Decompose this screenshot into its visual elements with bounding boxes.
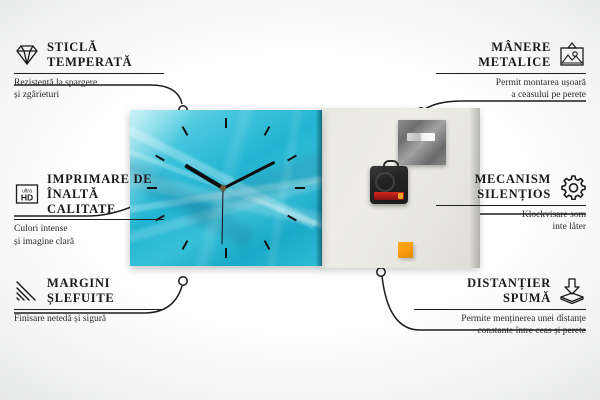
svg-text:HD: HD [21, 193, 33, 203]
callout-sub-line2: constante între ceas și perete [414, 325, 586, 338]
callout-title: STICLĂ TEMPERATĂ [47, 40, 132, 70]
callout-sub-line1: Culori intense [14, 223, 164, 236]
callout-mecanism-silentios: MECANISM SILENȚIOS Klockvisare som inte … [436, 172, 586, 234]
callout-title: DISTANȚIER SPUMĂ [467, 276, 551, 306]
callout-distantier-spuma: DISTANȚIER SPUMĂ Permite menținerea unei… [414, 276, 586, 338]
callout-title-line2: ȘLEFUITE [47, 291, 114, 306]
callout-title-line1: MECANISM [475, 172, 551, 187]
connector-dot-margini [179, 277, 187, 285]
callout-header: MARGINI ȘLEFUITE [14, 276, 164, 306]
callout-rule [14, 73, 164, 74]
callout-header: STICLĂ TEMPERATĂ [14, 40, 164, 70]
callout-title-line2: METALICE [478, 55, 551, 70]
callout-rule [436, 205, 586, 206]
callout-sub-line2: și imagine clară [14, 236, 164, 249]
callout-subtitle: Rezistentă la spargere și zgârieturi [14, 77, 164, 102]
callout-header: DISTANȚIER SPUMĂ [414, 276, 586, 306]
picture-hanger-icon [558, 42, 586, 68]
quartz-movement [370, 166, 408, 204]
callout-sub-line1: Finisare netedă și sigură [14, 313, 164, 326]
callout-title-line2: SPUMĂ [467, 291, 551, 306]
beveled-edge-icon [14, 279, 40, 303]
callout-sub-line1: Klockvisare som [436, 209, 586, 222]
callout-header: MÂNERE METALICE [436, 40, 586, 70]
callout-subtitle: Culori intense și imagine clară [14, 223, 164, 248]
callout-sticla-temperata: STICLĂ TEMPERATĂ Rezistentă la spargere … [14, 40, 164, 102]
metal-hanger-plate [398, 120, 446, 165]
callout-title-line1: STICLĂ [47, 40, 132, 55]
callout-title-line1: MÂNERE [478, 40, 551, 55]
callout-sub-line1: Permit montarea ușoară [436, 77, 586, 90]
callout-header: MECANISM SILENȚIOS [436, 172, 586, 202]
callout-sub-line1: Permite menținerea unei distanțe [414, 313, 586, 326]
battery [374, 192, 404, 200]
movement-hanging-loop [383, 160, 399, 172]
callout-subtitle: Finisare netedă și sigură [14, 313, 164, 326]
movement-dial [375, 172, 395, 192]
ultra-hd-icon: ultra HD [14, 182, 40, 206]
callout-sub-line1: Rezistentă la spargere [14, 77, 164, 90]
clock-edge-shadow [316, 110, 322, 266]
callout-rule [14, 309, 164, 310]
diamond-icon [14, 43, 40, 67]
callout-sub-line2: inte låter [436, 221, 586, 234]
callout-title-line2: TEMPERATĂ [47, 55, 132, 70]
callout-title: MECANISM SILENȚIOS [475, 172, 551, 202]
connector-dot-distantier [377, 268, 385, 276]
callout-rule [414, 309, 586, 310]
foam-spacer-icon [558, 278, 586, 304]
gear-icon [558, 174, 586, 200]
callout-sub-line2: și zgârieturi [14, 89, 164, 102]
callout-title-line2: SILENȚIOS [475, 187, 551, 202]
callout-title: MÂNERE METALICE [478, 40, 551, 70]
callout-title-line2: ÎNALTĂ CALITATE [47, 187, 164, 217]
callout-title: MARGINI ȘLEFUITE [47, 276, 114, 306]
callout-title-line1: MARGINI [47, 276, 114, 291]
callout-margini-slefuite: MARGINI ȘLEFUITE Finisare netedă și sigu… [14, 276, 164, 325]
hanger-slot [407, 133, 435, 141]
product-photo [130, 108, 480, 268]
callout-subtitle: Klockvisare som inte låter [436, 209, 586, 234]
callout-sub-line2: a ceasului pe perete [436, 89, 586, 102]
callout-rule [14, 219, 164, 220]
callout-manere-metalice: MÂNERE METALICE Permit montarea ușoară a… [436, 40, 586, 102]
callout-subtitle: Permite menținerea unei distanțe constan… [414, 313, 586, 338]
callout-title-line1: IMPRIMARE DE [47, 172, 164, 187]
foam-spacer-pad [398, 242, 413, 258]
callout-title: IMPRIMARE DE ÎNALTĂ CALITATE [47, 172, 164, 216]
callout-header: ultra HD IMPRIMARE DE ÎNALTĂ CALITATE [14, 172, 164, 216]
callout-rule [436, 73, 586, 74]
infographic-canvas: STICLĂ TEMPERATĂ Rezistentă la spargere … [0, 0, 600, 400]
callout-subtitle: Permit montarea ușoară a ceasului pe per… [436, 77, 586, 102]
callout-imprimare-calitate: ultra HD IMPRIMARE DE ÎNALTĂ CALITATE Cu… [14, 172, 164, 248]
callout-title-line1: DISTANȚIER [467, 276, 551, 291]
